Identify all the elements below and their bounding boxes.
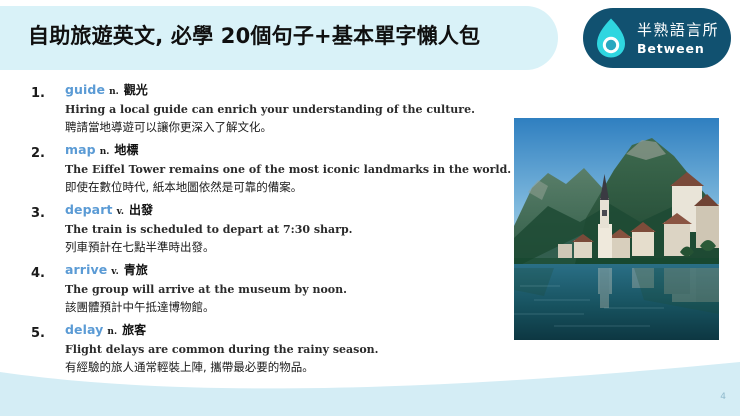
example-sentence-en: The train is scheduled to depart at 7:30… (65, 222, 505, 238)
gloss-cn: 觀光 (124, 82, 148, 98)
gloss-cn: 出發 (129, 202, 153, 218)
example-sentence-en: Hiring a local guide can enrich your und… (65, 102, 505, 118)
example-sentence-en: The Eiffel Tower remains one of the most… (65, 162, 505, 178)
headword: depart (65, 202, 113, 218)
headword: arrive (65, 262, 107, 278)
item-number: 1. (31, 86, 57, 101)
example-sentence-en: The group will arrive at the museum by n… (65, 282, 505, 298)
avocado-droplet-logo-icon (594, 17, 628, 59)
headword-row: arrive v. 青旅 (65, 262, 505, 280)
part-of-speech: v. (117, 204, 124, 220)
gloss-cn: 地標 (114, 142, 138, 158)
headword-row: depart v. 出發 (65, 202, 505, 220)
slide-canvas: 自助旅遊英文, 必學 20個句子+基本單字懶人包 半熟語言所 Between 1… (0, 0, 740, 416)
part-of-speech: n. (100, 144, 110, 160)
lakeside-alpine-village-photo (514, 118, 719, 340)
item-number: 4. (31, 266, 57, 281)
brand-logo-text: 半熟語言所 Between (637, 21, 719, 56)
example-sentence-zh: 該團體預計中午抵達博物館。 (65, 299, 505, 315)
example-sentence-zh: 即使在數位時代, 紙本地圖依然是可靠的備案。 (65, 179, 505, 195)
part-of-speech: n. (109, 84, 119, 100)
gloss-cn: 青旅 (124, 262, 148, 278)
brand-name-cn: 半熟語言所 (637, 21, 719, 39)
example-sentence-zh: 列車預計在七點半準時出發。 (65, 239, 505, 255)
vocab-item: 4. arrive v. 青旅 The group will arrive at… (0, 262, 505, 322)
page-title: 自助旅遊英文, 必學 20個句子+基本單字懶人包 (28, 19, 548, 53)
headword: guide (65, 82, 105, 98)
headword-row: guide n. 觀光 (65, 82, 505, 100)
vocab-item: 3. depart v. 出發 The train is scheduled t… (0, 202, 505, 262)
item-number: 2. (31, 146, 57, 161)
headword-row: map n. 地標 (65, 142, 505, 160)
vocabulary-list: 1. guide n. 觀光 Hiring a local guide can … (0, 82, 505, 382)
item-number: 5. (31, 326, 57, 341)
headword-row: delay n. 旅客 (65, 322, 505, 340)
vocab-item: 1. guide n. 觀光 Hiring a local guide can … (0, 82, 505, 142)
vocab-item: 2. map n. 地標 The Eiffel Tower remains on… (0, 142, 505, 202)
example-sentence-zh: 聘請當地導遊可以讓你更深入了解文化。 (65, 119, 505, 135)
brand-name-en: Between (637, 41, 719, 56)
headword: map (65, 142, 96, 158)
page-number: 4 (720, 392, 726, 402)
gloss-cn: 旅客 (122, 322, 146, 338)
headword: delay (65, 322, 103, 338)
brand-logo-badge: 半熟語言所 Between (583, 8, 731, 68)
part-of-speech: v. (111, 264, 118, 280)
part-of-speech: n. (107, 324, 117, 340)
item-number: 3. (31, 206, 57, 221)
bottom-wave-decoration (0, 356, 740, 416)
